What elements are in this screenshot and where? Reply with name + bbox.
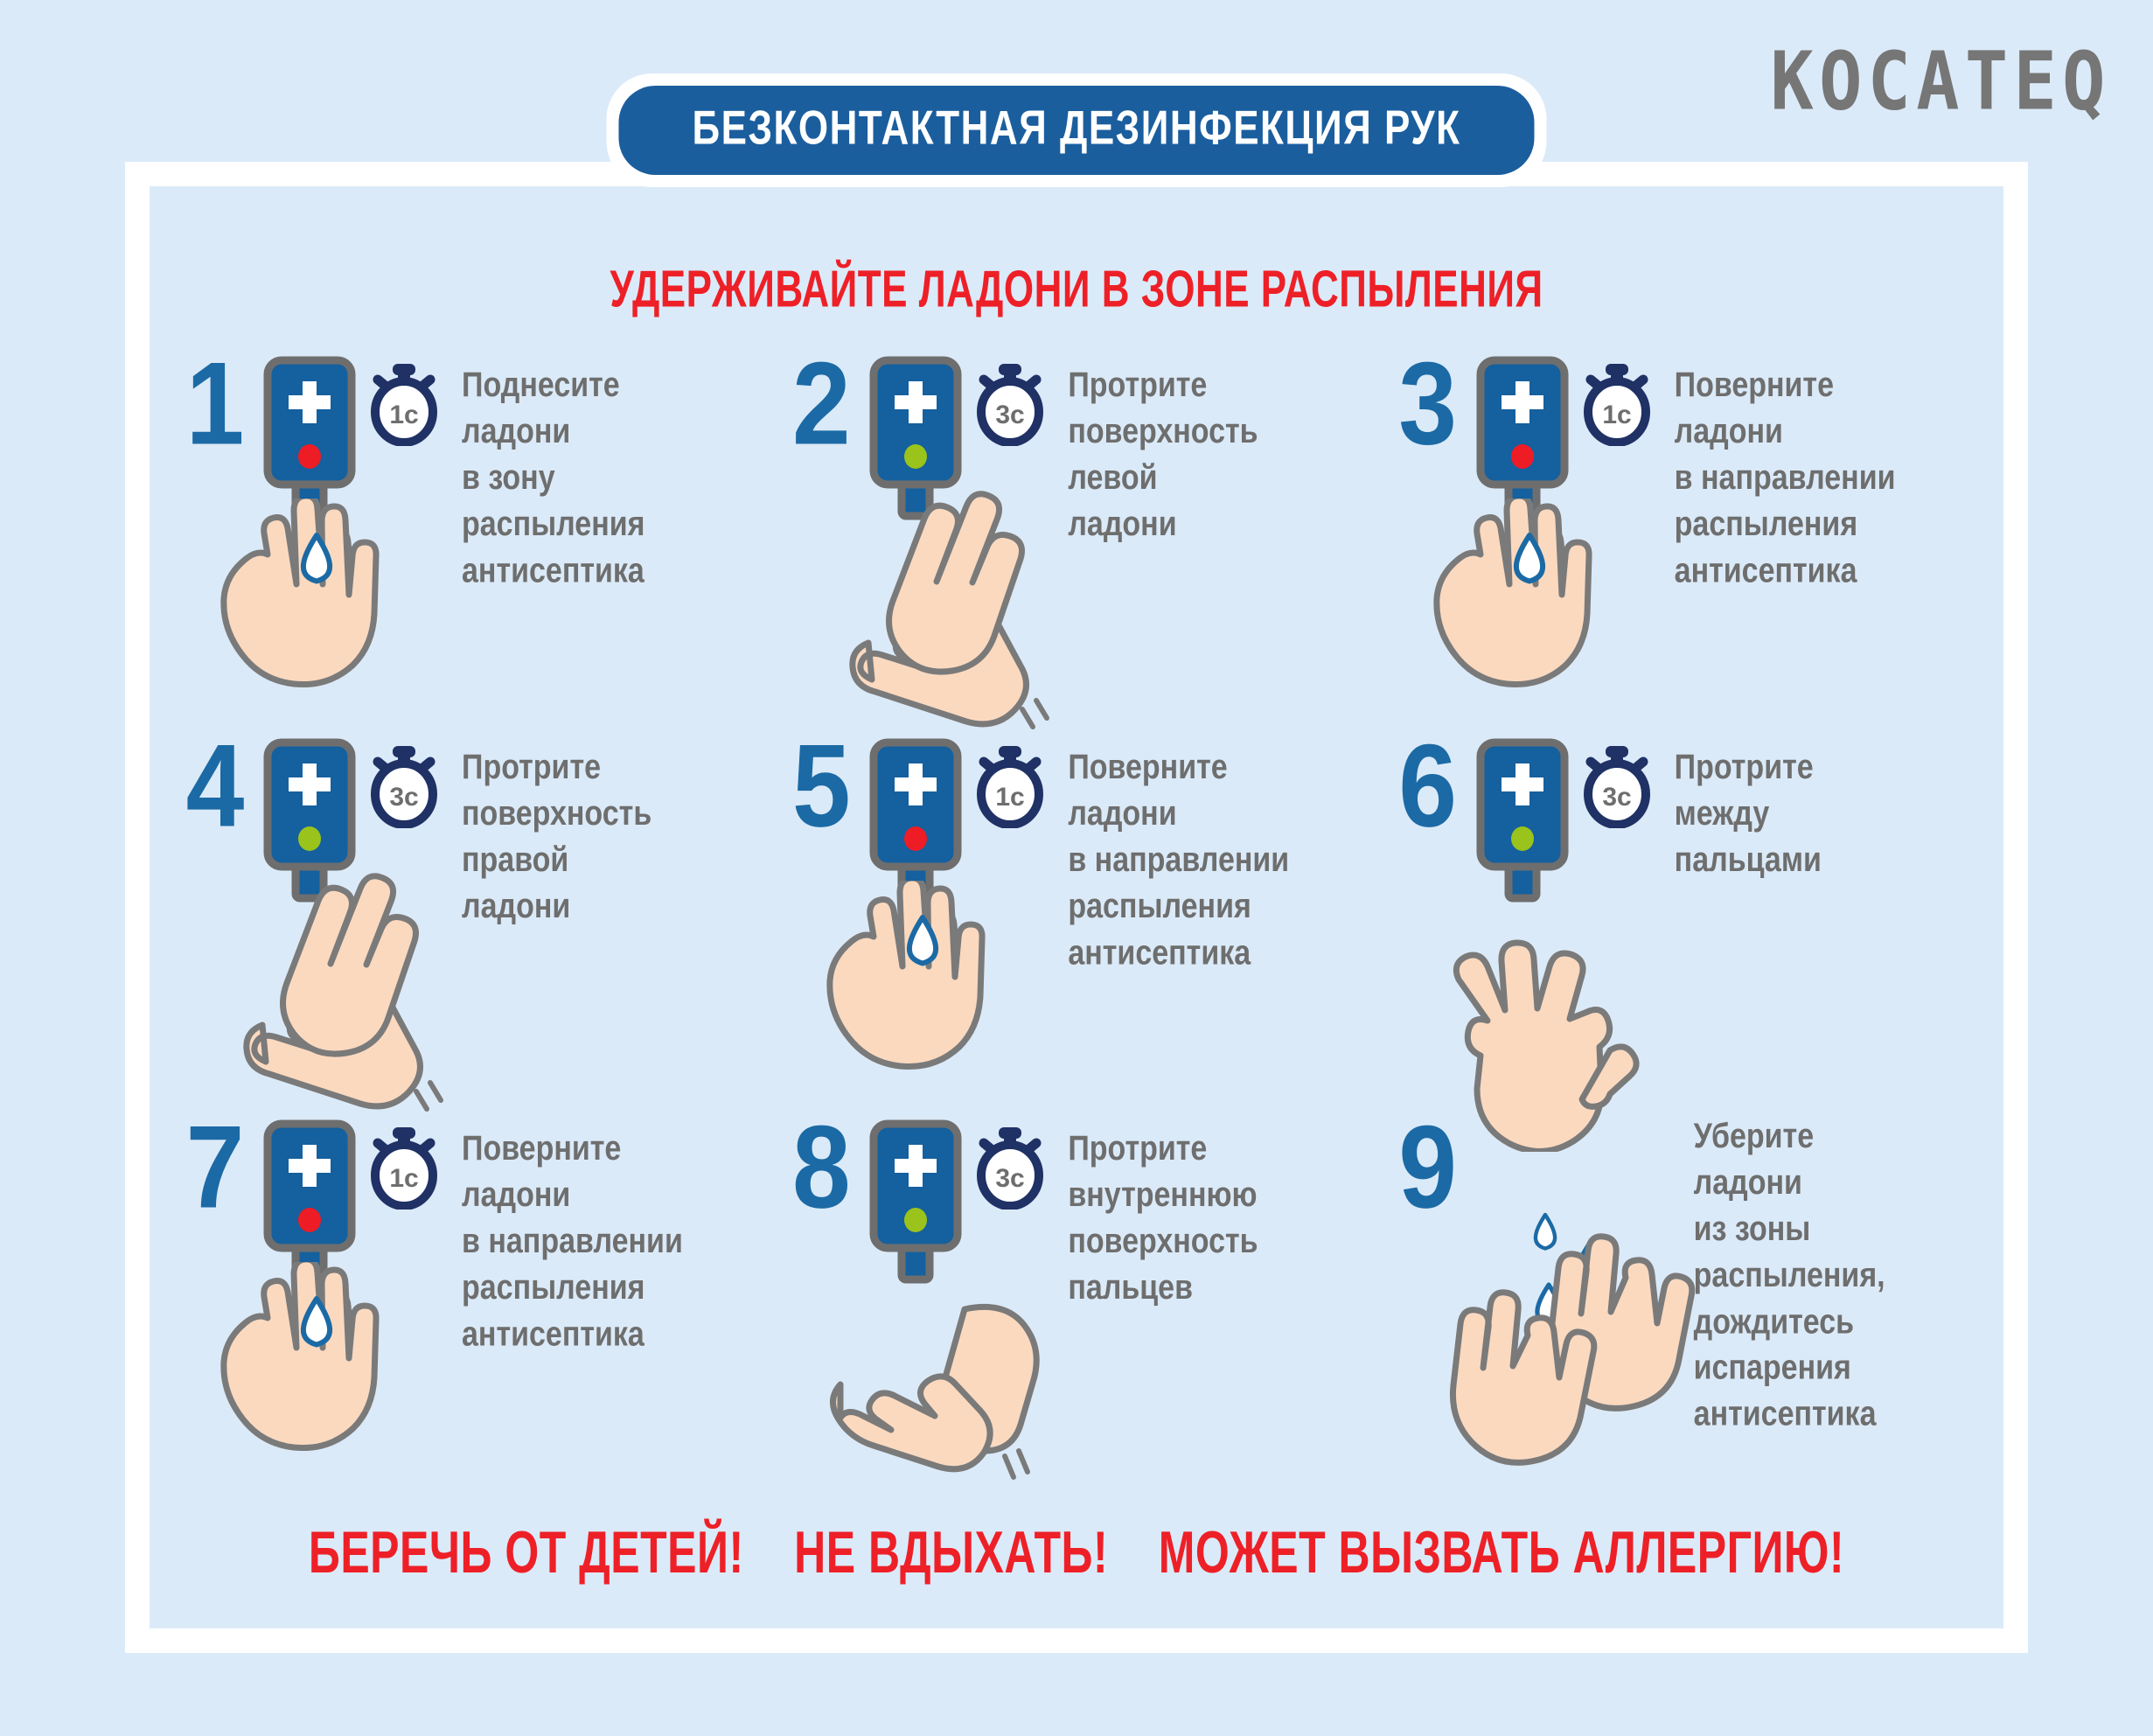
stopwatch-icon: 3с	[1577, 744, 1657, 828]
step-number: 4	[175, 732, 255, 840]
stopwatch-icon: 1с	[364, 362, 444, 446]
svg-text:3с: 3с	[996, 401, 1025, 429]
bottle-wrap	[868, 1113, 963, 1289]
page-title: БЕЗКОНТАКТНАЯ ДЕЗИНФЕКЦИЯ РУК	[692, 103, 1460, 154]
timer-wrap: 3с	[364, 732, 444, 833]
sanitizer-bottle-icon	[868, 1119, 963, 1285]
sanitizer-bottle-icon	[868, 737, 963, 903]
svg-text:1с: 1с	[996, 783, 1025, 812]
step-card: 6 3с Протрите между пальцами	[1388, 732, 1994, 1114]
stopwatch-icon: 3с	[970, 1126, 1050, 1210]
sanitizer-bottle-icon	[262, 355, 357, 521]
step-header: 8 3с Протрите внутреннюю поверхность пал…	[781, 1113, 1258, 1289]
step-number: 1	[175, 350, 255, 458]
svg-text:1с: 1с	[1602, 401, 1631, 429]
sanitizer-bottle-icon	[1475, 355, 1570, 521]
timer-wrap: 3с	[970, 1113, 1050, 1214]
footer-warning: БЕРЕЧЬ ОТ ДЕТЕЙ! НЕ ВДЫХАТЬ! МОЖЕТ ВЫЗВА…	[0, 1518, 2153, 1586]
timer-wrap: 1с	[970, 732, 1050, 833]
interlaced-fingers-illustration	[1423, 863, 1720, 1152]
brand-logo: KOCATEQ	[1771, 42, 2111, 122]
page-subtitle: УДЕРЖИВАЙТЕ ЛАДОНИ В ЗОНЕ РАСПЫЛЕНИЯ	[0, 261, 2153, 320]
step-number: 5	[781, 732, 861, 840]
stopwatch-icon: 3с	[970, 362, 1050, 446]
stopwatch-icon: 1с	[364, 1126, 444, 1210]
timer-wrap: 1с	[364, 350, 444, 450]
step-instruction-text: Поднесите ладони в зону распыления антис…	[462, 362, 645, 594]
stopwatch-icon: 1с	[1577, 362, 1657, 446]
steps-grid: 1 1с Поднесите ладони в зону распыления …	[175, 350, 1994, 1495]
step-instruction-text: Поверните ладони в направлении распылени…	[1068, 744, 1289, 976]
timer-wrap: 1с	[1577, 350, 1657, 450]
title-banner: БЕЗКОНТАКТНАЯ ДЕЗИНФЕКЦИЯ РУК	[606, 73, 1546, 187]
step-number: 3	[1388, 350, 1468, 458]
timer-wrap: 1с	[364, 1113, 444, 1214]
step-instruction-text: Поверните ладони в направлении распылени…	[1675, 362, 1896, 594]
svg-text:3с: 3с	[1602, 783, 1631, 812]
cupped-hands-evaporating-illustration	[1440, 1183, 1773, 1498]
step-number: 8	[781, 1113, 861, 1222]
svg-text:1с: 1с	[389, 1164, 418, 1193]
step-card: 4 3с Протрите поверхность правой ладони	[175, 732, 781, 1114]
open-palm-hand-illustration	[184, 1262, 446, 1524]
palm-rubbing-hands-illustration	[816, 485, 1113, 765]
timer-wrap: 3с	[970, 350, 1050, 450]
step-number: 7	[175, 1113, 255, 1222]
svg-text:3с: 3с	[996, 1164, 1025, 1193]
palm-rubbing-hands-illustration	[210, 868, 507, 1147]
step-card: 2 3с Протрите поверхность левой ладони	[781, 350, 1387, 732]
step-number: 6	[1388, 732, 1468, 840]
clasped-fingers-illustration	[807, 1288, 1096, 1542]
svg-text:1с: 1с	[389, 401, 418, 429]
sanitizer-bottle-icon	[262, 1119, 357, 1285]
step-number: 2	[781, 350, 861, 458]
step-card: 3 1с Поверните ладони в направлении расп…	[1388, 350, 1994, 732]
step-instruction-text: Протрите внутреннюю поверхность пальцев	[1068, 1126, 1258, 1311]
stopwatch-icon: 1с	[970, 744, 1050, 828]
step-card: 5 1с Поверните ладони в направлении расп…	[781, 732, 1387, 1114]
svg-text:3с: 3с	[389, 783, 418, 812]
stopwatch-icon: 3с	[364, 744, 444, 828]
step-card: 9Уберите ладони из зоны распыления, дожд…	[1388, 1113, 1994, 1495]
timer-wrap: 3с	[1577, 732, 1657, 833]
title-banner-inner: БЕЗКОНТАКТНАЯ ДЕЗИНФЕКЦИЯ РУК	[618, 86, 1534, 175]
step-card: 1 1с Поднесите ладони в зону распыления …	[175, 350, 781, 732]
step-card: 7 1с Поверните ладони в направлении расп…	[175, 1113, 781, 1495]
step-instruction-text: Поверните ладони в направлении распылени…	[462, 1126, 683, 1357]
poster-root: KOCATEQ БЕЗКОНТАКТНАЯ ДЕЗИНФЕКЦИЯ РУК УД…	[0, 0, 2153, 1736]
step-card: 8 3с Протрите внутреннюю поверхность пал…	[781, 1113, 1387, 1495]
